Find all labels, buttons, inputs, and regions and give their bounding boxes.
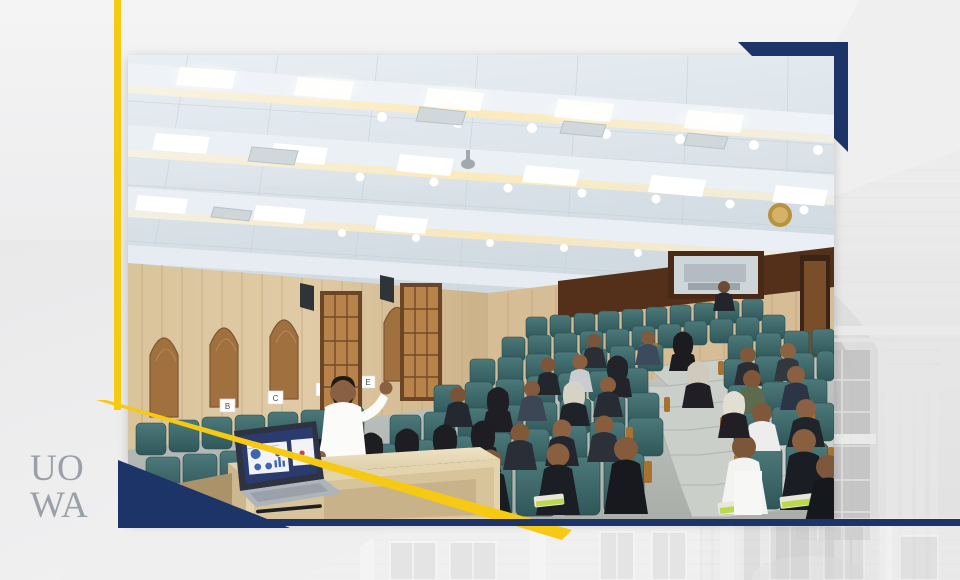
logo-line-1: UO (30, 452, 126, 486)
logo-line-2: WA (30, 489, 126, 523)
navy-horizontal-bar (178, 519, 960, 526)
uowa-logo: UO WA (30, 452, 126, 530)
svg-text:C: C (273, 394, 279, 403)
lecture-hall-photo: B C D E F (128, 55, 834, 522)
svg-text:B: B (225, 402, 230, 411)
svg-text:E: E (365, 378, 370, 387)
yellow-vertical-rule (114, 0, 121, 410)
poster-canvas: B C D E F (0, 0, 960, 580)
campus-building-watermark-bottom (300, 518, 960, 580)
